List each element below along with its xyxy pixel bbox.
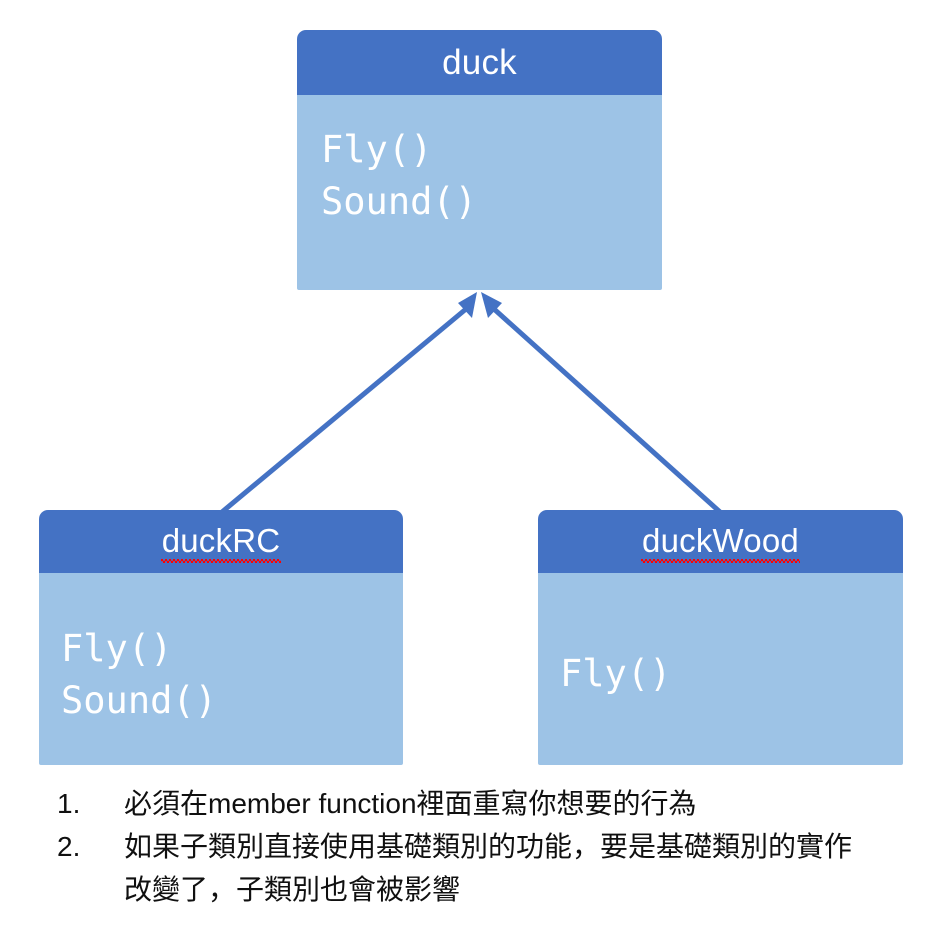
- note-text: 必須在member function裡面重寫你想要的行為: [124, 782, 864, 825]
- class-methods-duckwood: Fly(): [538, 573, 903, 765]
- connector-line-duckwood: [494, 309, 720, 512]
- arrowhead-duckrc: [458, 292, 477, 318]
- connector-duckrc-to-duck: [222, 292, 477, 512]
- connector-line-duckrc: [222, 309, 466, 512]
- class-box-duckwood[interactable]: duckWood Fly(): [538, 510, 903, 765]
- note-marker: 2.: [46, 825, 124, 868]
- class-header-duckrc[interactable]: duckRC: [39, 510, 403, 573]
- note-marker: 1.: [46, 782, 124, 825]
- class-methods-duckrc: Fly() Sound(): [39, 573, 403, 765]
- note-text: 如果子類別直接使用基礎類別的功能，要是基礎類別的實作改變了，子類別也會被影響: [124, 825, 864, 911]
- class-box-duck[interactable]: duck Fly() Sound(): [297, 30, 662, 290]
- class-diagram-canvas: duck Fly() Sound() duckRC Fly() Sound() …: [0, 0, 939, 940]
- connector-duckwood-to-duck: [481, 292, 720, 512]
- note-item: 1. 必須在member function裡面重寫你想要的行為: [46, 782, 926, 825]
- class-name-duck: duck: [442, 43, 517, 83]
- class-header-duckwood[interactable]: duckWood: [538, 510, 903, 573]
- arrowhead-duckwood: [481, 292, 502, 318]
- class-box-duckrc[interactable]: duckRC Fly() Sound(): [39, 510, 403, 765]
- note-item: 2. 如果子類別直接使用基礎類別的功能，要是基礎類別的實作改變了，子類別也會被影…: [46, 825, 926, 911]
- class-methods-duck: Fly() Sound(): [297, 95, 662, 290]
- class-header-duck[interactable]: duck: [297, 30, 662, 95]
- notes-list: 1. 必須在member function裡面重寫你想要的行為 2. 如果子類別…: [46, 782, 926, 911]
- class-name-duckwood: duckWood: [642, 522, 799, 562]
- class-name-duckrc: duckRC: [162, 522, 281, 562]
